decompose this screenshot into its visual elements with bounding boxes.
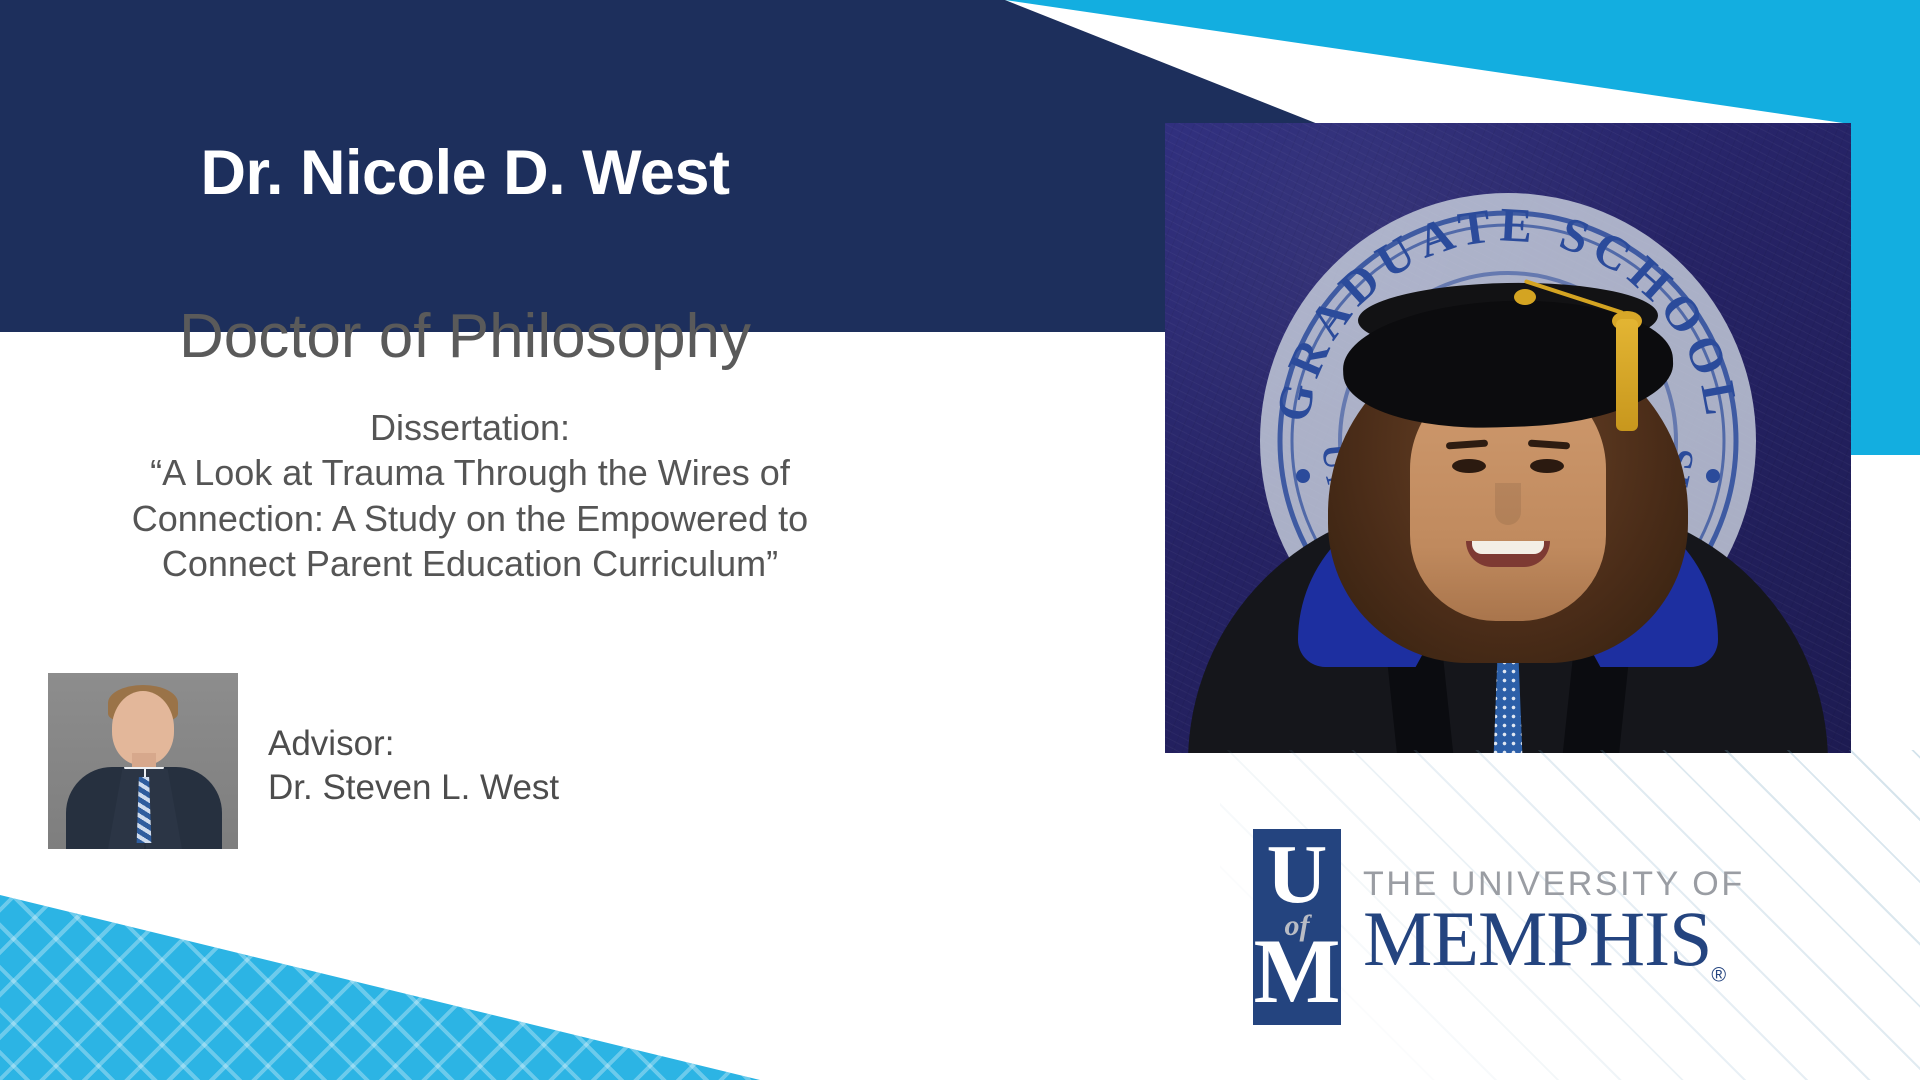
uofm-monogram-icon: U of M [1253,829,1341,1025]
graduate-eye-left [1452,459,1486,473]
cyan-chevron-bottom-left [0,840,760,1080]
graduate-photo: GRADUATE SCHOOL UNIVERSITY OF MEMPHIS [1165,123,1851,753]
advisor-label: Advisor: [268,722,559,766]
dissertation-label: Dissertation: [60,405,880,450]
university-of-memphis-logo: U of M THE UNIVERSITY OF MEMPHIS® [1253,829,1745,1025]
advisor-block: Advisor: Dr. Steven L. West [268,722,559,810]
dissertation-block: Dissertation: “A Look at Trauma Through … [60,405,880,586]
uofm-wordmark-line2: MEMPHIS® [1363,901,1745,986]
graduate-eye-right [1530,459,1564,473]
monogram-letter-u: U [1253,833,1341,917]
dissertation-title: “A Look at Trauma Through the Wires of C… [60,450,880,586]
graduate-mouth [1466,541,1550,567]
chevron-pattern [0,840,760,1080]
graduate-teeth [1472,541,1544,554]
advisor-photo [48,673,238,849]
registered-trademark-icon: ® [1711,965,1725,987]
slide-canvas: Dr. Nicole D. West Doctor of Philosophy … [0,0,1920,1080]
tassel [1616,319,1638,431]
uofm-wordmark: THE UNIVERSITY OF MEMPHIS® [1363,867,1745,986]
monogram-letter-m: M [1253,925,1341,1017]
uofm-memphis-text: MEMPHIS [1363,895,1711,982]
degree-title: Doctor of Philosophy [0,301,930,372]
graduate-nose [1495,483,1521,525]
tam-button [1514,289,1536,305]
advisor-name: Dr. Steven L. West [268,766,559,810]
graduate-name: Dr. Nicole D. West [0,139,930,208]
